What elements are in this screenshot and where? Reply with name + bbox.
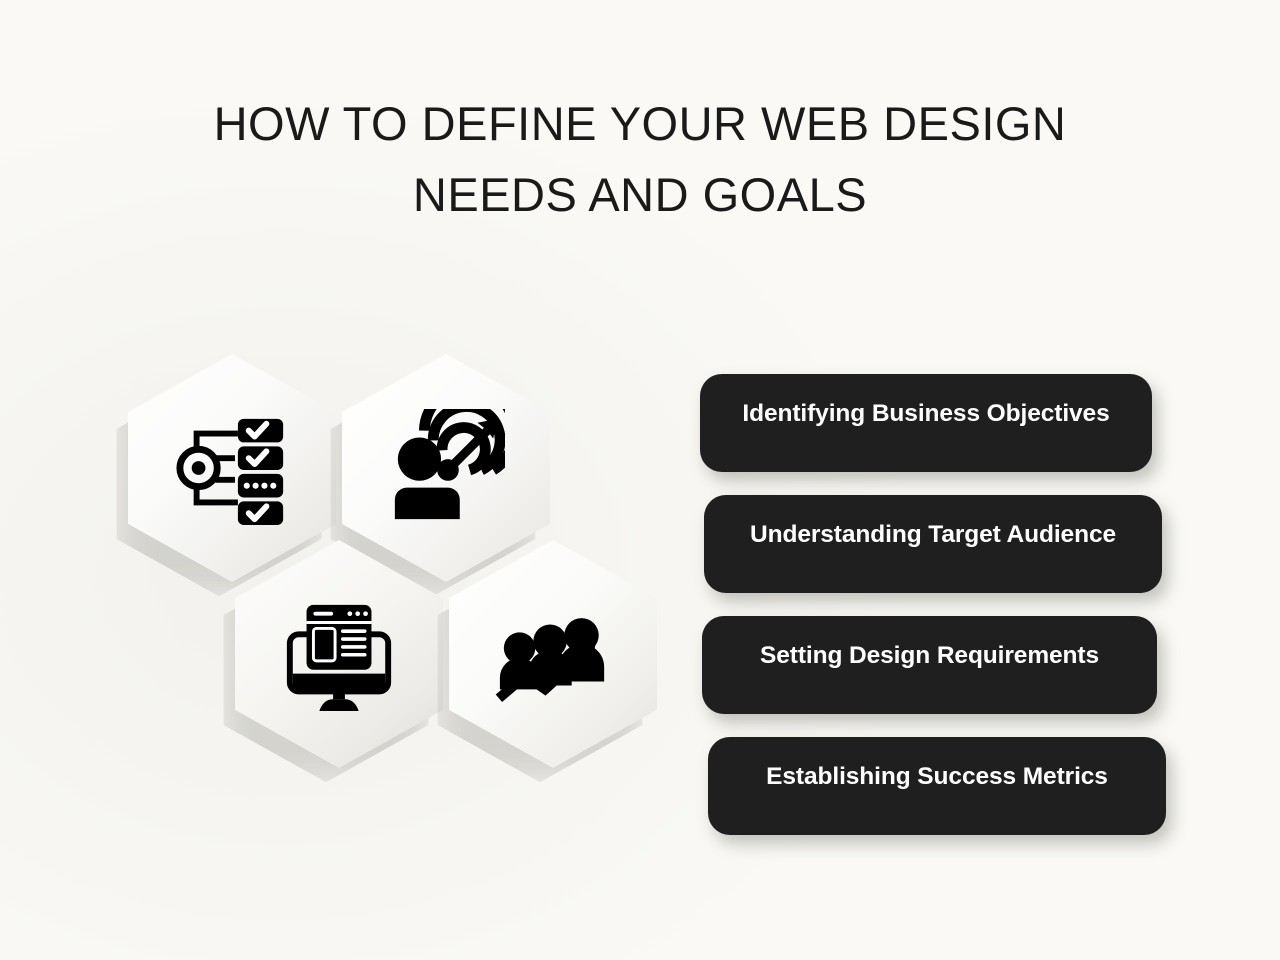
step-card-establishing-success-metrics[interactable]: Establishing Success Metrics — [708, 737, 1166, 835]
card-label: Identifying Business Objectives — [742, 400, 1109, 428]
people-growth-arrow-icon — [494, 595, 612, 713]
hexagon-icon-cluster — [118, 352, 688, 812]
infographic-canvas: HOW TO DEFINE YOUR WEB DESIGN NEEDS AND … — [0, 0, 1280, 960]
objectives-checklist-icon — [173, 409, 291, 527]
card-label: Understanding Target Audience — [750, 521, 1116, 549]
monitor-wireframe-icon — [280, 595, 398, 713]
steps-card-list: Identifying Business Objectives Understa… — [698, 374, 1168, 834]
page-title: HOW TO DEFINE YOUR WEB DESIGN NEEDS AND … — [0, 88, 1280, 231]
hexagon-tile-metrics — [449, 540, 657, 768]
card-label: Establishing Success Metrics — [766, 763, 1108, 791]
card-label: Setting Design Requirements — [760, 642, 1099, 670]
step-card-identifying-business-objectives[interactable]: Identifying Business Objectives — [700, 374, 1152, 472]
step-card-understanding-target-audience[interactable]: Understanding Target Audience — [704, 495, 1162, 593]
step-card-setting-design-requirements[interactable]: Setting Design Requirements — [702, 616, 1157, 714]
audience-target-icon — [387, 409, 505, 527]
hexagon-tile-design — [235, 540, 443, 768]
